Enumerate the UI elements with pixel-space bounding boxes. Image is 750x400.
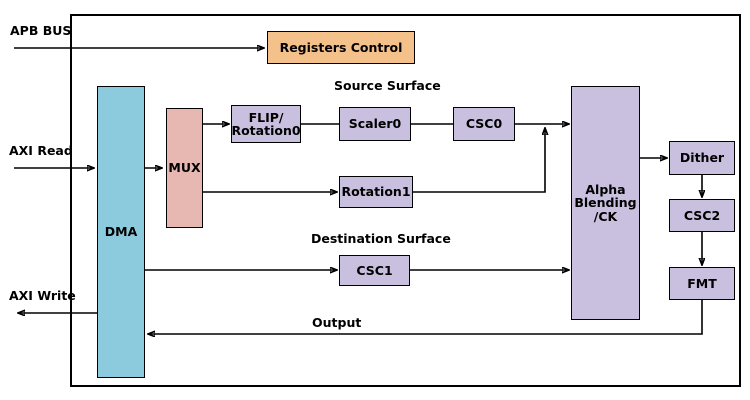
- port-label-apb-bus: APB BUS: [10, 23, 71, 38]
- port-label-axi-write: AXI Write: [9, 288, 76, 303]
- block-flip-rotation0[interactable]: FLIP/ Rotation0: [231, 105, 301, 143]
- block-dither[interactable]: Dither: [669, 141, 735, 175]
- block-fmt[interactable]: FMT: [669, 267, 735, 300]
- block-rotation1[interactable]: Rotation1: [339, 176, 413, 208]
- caption-output: Output: [312, 315, 361, 330]
- port-label-axi-read: AXI Read: [9, 143, 73, 158]
- caption-destination-surface: Destination Surface: [311, 231, 451, 246]
- block-dma[interactable]: DMA: [97, 86, 145, 378]
- block-csc1[interactable]: CSC1: [339, 255, 410, 286]
- block-csc2[interactable]: CSC2: [669, 199, 735, 232]
- block-alpha-blending[interactable]: Alpha Blending /CK: [571, 86, 640, 320]
- block-registers-control[interactable]: Registers Control: [267, 31, 415, 64]
- block-csc0[interactable]: CSC0: [453, 107, 515, 141]
- block-scaler0[interactable]: Scaler0: [339, 107, 411, 141]
- block-diagram-canvas: APB BUS AXI Read AXI Write Source Surfac…: [0, 0, 750, 400]
- caption-source-surface: Source Surface: [334, 78, 441, 93]
- block-mux[interactable]: MUX: [166, 108, 203, 228]
